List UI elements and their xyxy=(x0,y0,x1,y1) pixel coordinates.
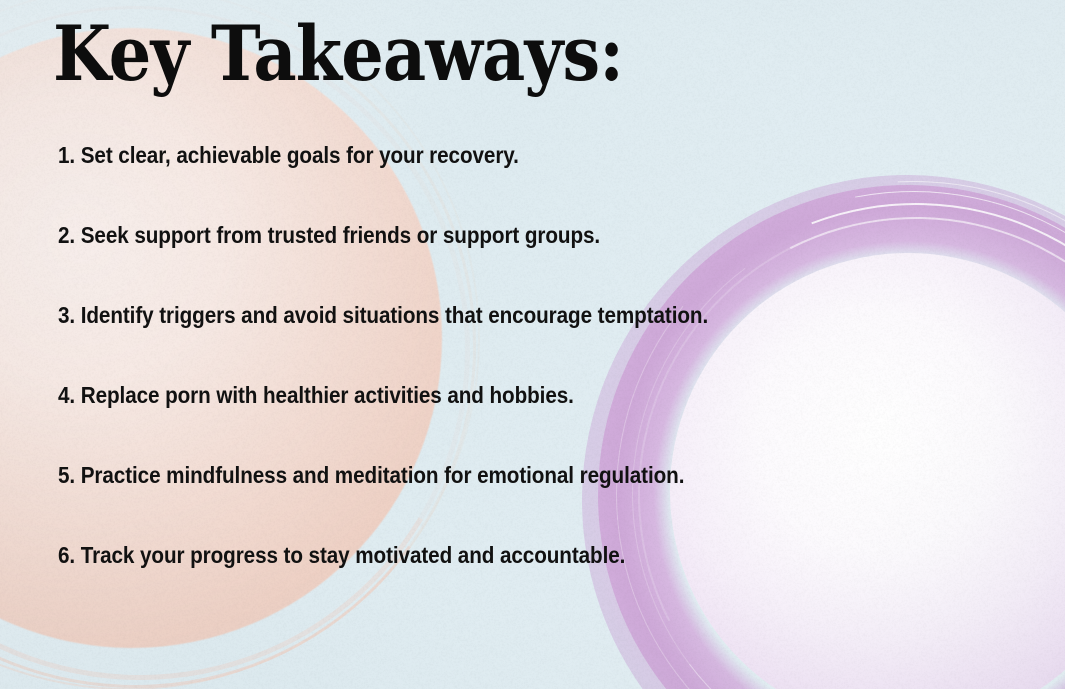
takeaways-list: 1. Set clear, achievable goals for your … xyxy=(58,144,998,624)
list-item: 4. Replace porn with healthier activitie… xyxy=(58,384,885,464)
list-item: 5. Practice mindfulness and meditation f… xyxy=(58,464,885,544)
slide-canvas: Key Takeaways: 1. Set clear, achievable … xyxy=(0,0,1065,689)
list-item: 3. Identify triggers and avoid situation… xyxy=(58,304,885,384)
list-item: 2. Seek support from trusted friends or … xyxy=(58,224,885,304)
list-item: 6. Track your progress to stay motivated… xyxy=(58,544,885,624)
slide-content: Key Takeaways: 1. Set clear, achievable … xyxy=(0,0,1065,689)
page-title: Key Takeaways: xyxy=(53,16,623,92)
list-item: 1. Set clear, achievable goals for your … xyxy=(58,144,885,224)
